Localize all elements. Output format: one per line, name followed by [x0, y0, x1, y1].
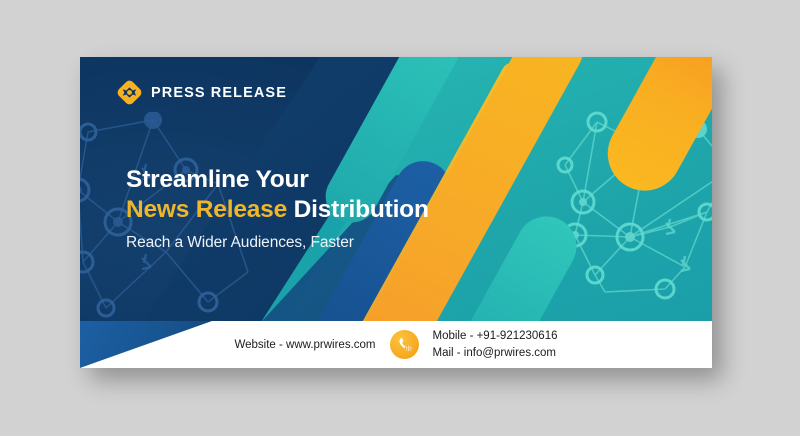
headline-block: Streamline Your News Release Distributio… [126, 165, 526, 252]
logo-text: PRESS RELEASE [151, 85, 287, 101]
headline-line-2: News Release Distribution [126, 195, 526, 225]
headline-accent: News Release [126, 196, 287, 223]
headline-line-1: Streamline Your [126, 165, 526, 195]
subheadline: Reach a Wider Audiences, Faster [126, 234, 526, 252]
banner-canvas: PRESS RELEASE Streamline Your News Relea… [80, 57, 712, 368]
banner-card: PRESS RELEASE Streamline Your News Relea… [80, 57, 712, 368]
contact-details: Mobile - +91-921230616 Mail - info@prwir… [433, 329, 558, 359]
mobile-text[interactable]: Mobile - +91-921230616 [433, 329, 558, 343]
logo-lockup[interactable]: PRESS RELEASE [117, 80, 287, 105]
diamond-cross-logo-icon [117, 80, 142, 105]
phone-globe-icon [390, 330, 419, 359]
headline-line-2-rest: Distribution [287, 196, 429, 223]
banner-footer: Website - www.prwires.com Mobile - +91-9… [80, 321, 712, 368]
mail-text[interactable]: Mail - info@prwires.com [433, 346, 558, 360]
website-text[interactable]: Website - www.prwires.com [234, 339, 375, 351]
